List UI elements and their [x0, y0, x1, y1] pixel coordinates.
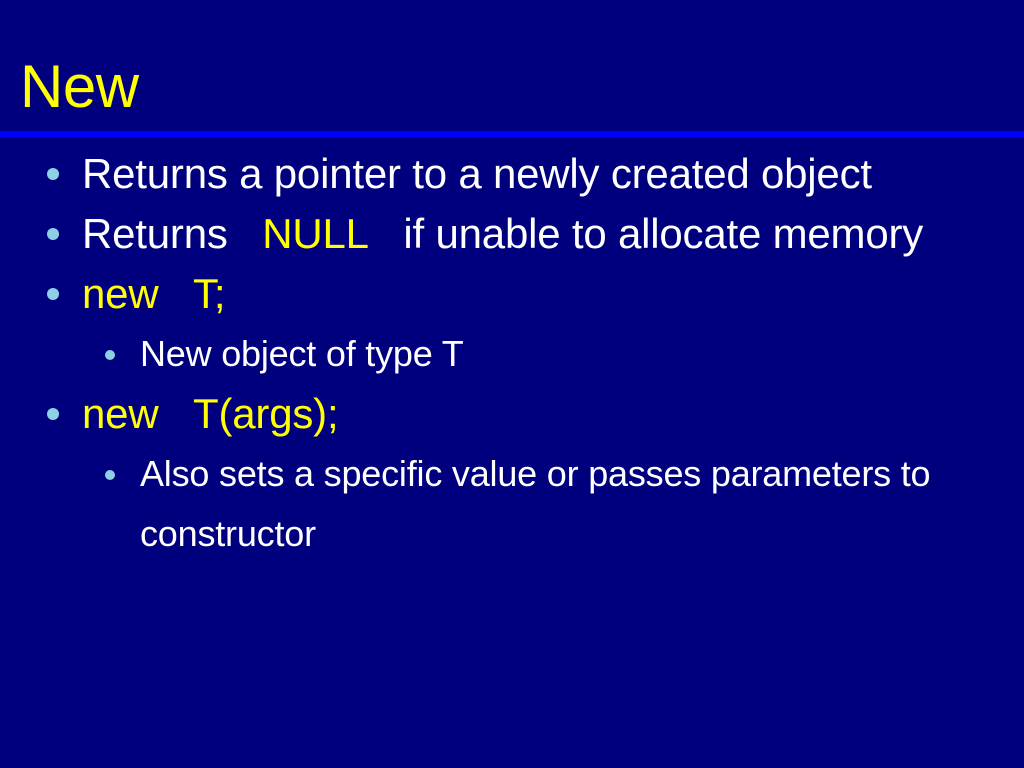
disc-bullet-icon [105, 470, 115, 480]
bullet-item: Returns NULL if unable to allocate memor… [0, 204, 1024, 264]
sub-bullet-text: New object of type T [140, 333, 464, 374]
bullet-text: Returns [82, 210, 228, 257]
bullet-item: new T(args); [0, 384, 1024, 444]
bullet-code-new: new [82, 390, 158, 437]
disc-bullet-icon [47, 288, 59, 300]
bullet-text: Returns a pointer to a newly created obj… [82, 150, 872, 197]
bullet-code-null: NULL [239, 210, 392, 257]
bullet-item: new T; [0, 264, 1024, 324]
bullet-code-type: T; [170, 270, 225, 317]
title-divider-rule [0, 131, 1024, 137]
disc-bullet-icon [47, 168, 59, 180]
page-title: New [20, 52, 1004, 122]
slide-canvas: New Returns a pointer to a newly created… [0, 0, 1024, 768]
bullet-item: Returns a pointer to a newly created obj… [0, 144, 1024, 204]
slide-body: Returns a pointer to a newly created obj… [0, 144, 1024, 564]
bullet-code-new: new [82, 270, 158, 317]
disc-bullet-icon [47, 408, 59, 420]
slide-title-block: New [20, 52, 1004, 130]
sub-bullet-item: Also sets a specific value or passes par… [0, 444, 1024, 564]
sub-bullet-text: Also sets a specific value or passes par… [140, 453, 940, 554]
sub-bullet-item: New object of type T [0, 324, 1024, 384]
bullet-code-type-args: T(args); [170, 390, 339, 437]
disc-bullet-icon [105, 350, 115, 360]
disc-bullet-icon [47, 228, 59, 240]
bullet-text: if unable to allocate memory [403, 210, 923, 257]
